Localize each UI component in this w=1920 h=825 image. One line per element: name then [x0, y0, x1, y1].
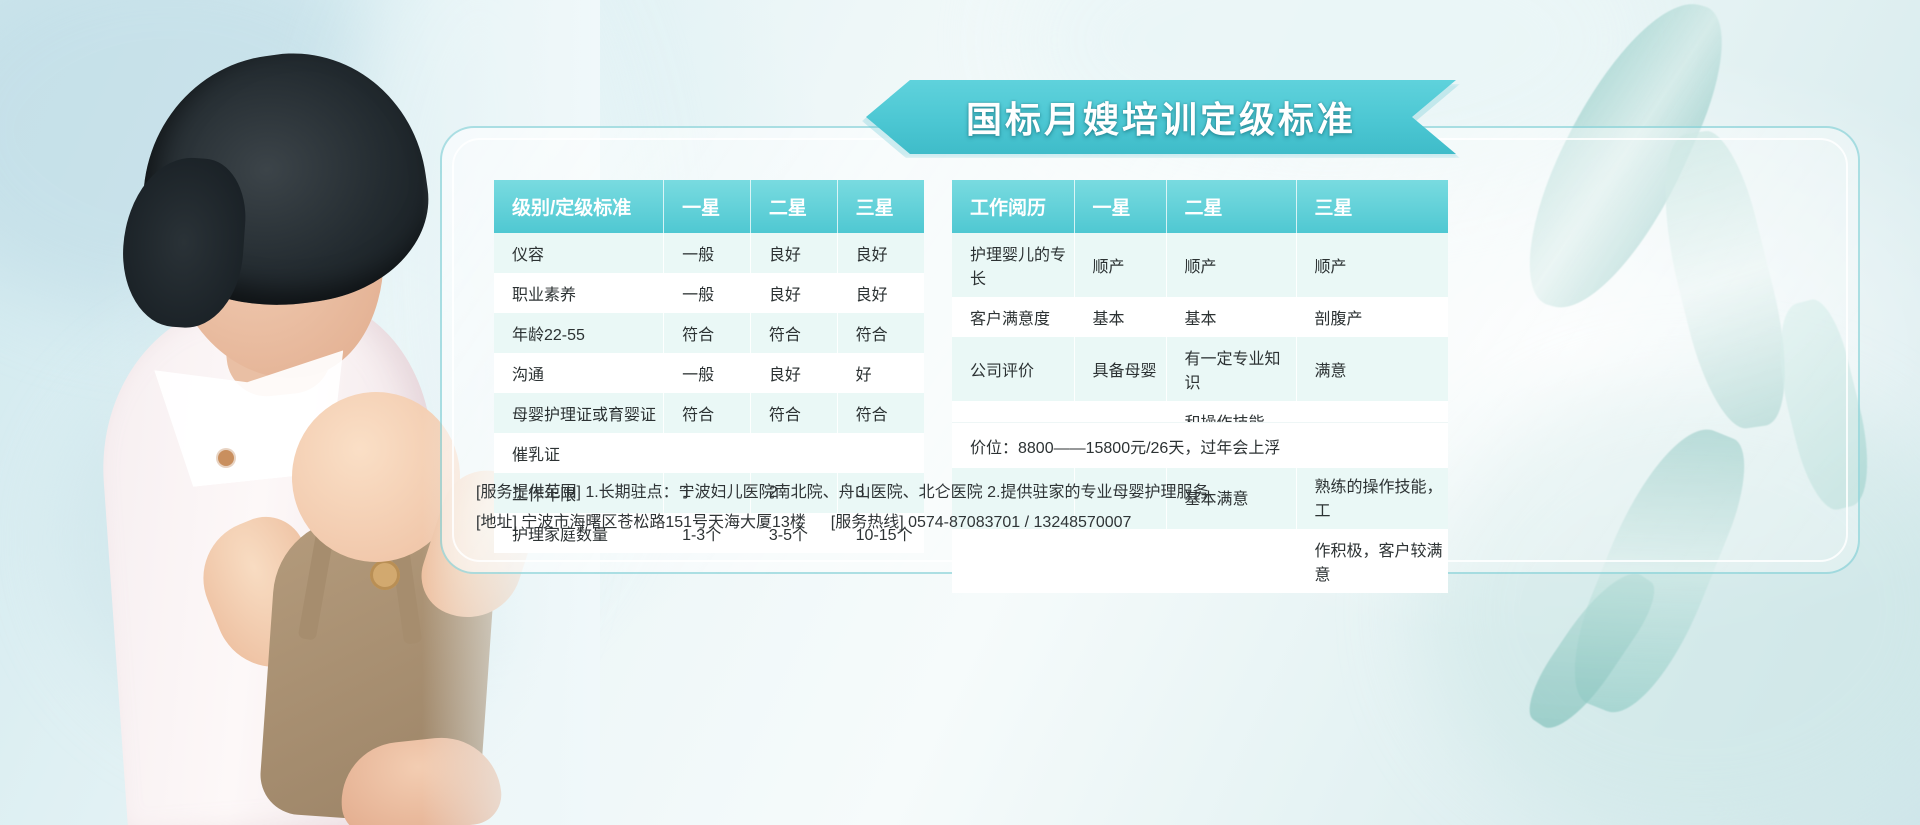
cell-two-star: 良好: [750, 233, 837, 273]
experience-label: 客户满意度: [952, 297, 1074, 337]
cell-three-star: [837, 433, 924, 473]
address-hotline-line: [地址] 宁波市海曙区苍松路151号天海大厦13楼 [服务热线] 0574-87…: [476, 508, 1476, 538]
table-row: 护理婴儿的专长 顺产 顺产 顺产: [952, 233, 1448, 297]
cell-one-star: 符合: [664, 393, 751, 433]
criteria-label: 催乳证: [494, 433, 664, 473]
criteria-label: 职业素养: [494, 273, 664, 313]
table-row: 仪容 一般 良好 良好: [494, 233, 924, 273]
cell-three-star: 好: [837, 353, 924, 393]
banner-ribbon: 国标月嫂培训定级标准: [866, 80, 1456, 154]
criteria-label: 仪容: [494, 233, 664, 273]
experience-label: [952, 529, 1074, 593]
cell-one-star: 一般: [664, 353, 751, 393]
cell-three-star: 作积极，客户较满意: [1296, 529, 1448, 593]
column-header-three-star: 三星: [837, 180, 924, 233]
column-header-two-star: 二星: [750, 180, 837, 233]
cell-three-star: 符合: [837, 313, 924, 353]
page-title: 国标月嫂培训定级标准: [966, 91, 1356, 143]
table-row: 催乳证: [494, 433, 924, 473]
cell-two-star: 良好: [750, 273, 837, 313]
cell-two-star: 基本: [1166, 297, 1296, 337]
cell-one-star: 一般: [664, 273, 751, 313]
cell-one-star: 具备母婴: [1074, 337, 1166, 401]
hotline-text: [服务热线] 0574-87083701 / 13248570007: [831, 514, 1132, 531]
table-row: 母婴护理证或育婴证 符合 符合 符合: [494, 393, 924, 433]
table-row: 沟通 一般 良好 好: [494, 353, 924, 393]
cell-three-star: 良好: [837, 273, 924, 313]
experience-label: 护理婴儿的专长: [952, 233, 1074, 297]
service-scope-line: [服务提供范围] 1.长期驻点：宁波妇儿医院南北院、舟山医院、北仑医院 2.提供…: [476, 478, 1476, 508]
criteria-label: 沟通: [494, 353, 664, 393]
column-header-one-star: 一星: [1074, 180, 1166, 233]
cell-two-star: 符合: [750, 313, 837, 353]
table-header-row: 级别/定级标准 一星 二星 三星: [494, 180, 924, 233]
cell-three-star: 顺产: [1296, 233, 1448, 297]
cell-two-star: [1166, 529, 1296, 593]
cell-one-star: 符合: [664, 313, 751, 353]
cell-two-star: 良好: [750, 353, 837, 393]
table-header-row: 工作阅历 一星 二星 三星: [952, 180, 1448, 233]
cell-three-star: 剖腹产: [1296, 297, 1448, 337]
price-note: 价位：8800——15800元/26天，过年会上浮: [952, 422, 1448, 468]
cell-two-star: 符合: [750, 393, 837, 433]
cell-three-star: 满意: [1296, 337, 1448, 401]
column-header-two-star: 二星: [1166, 180, 1296, 233]
table-row: 客户满意度 基本 基本 剖腹产: [952, 297, 1448, 337]
address-text: [地址] 宁波市海曙区苍松路151号天海大厦13楼: [476, 514, 806, 531]
cell-one-star: [664, 433, 751, 473]
uniform-button: [218, 450, 234, 466]
cell-two-star: [750, 433, 837, 473]
cell-one-star: 基本: [1074, 297, 1166, 337]
cell-three-star: 良好: [837, 233, 924, 273]
table-row: 职业素养 一般 良好 良好: [494, 273, 924, 313]
table-row: 公司评价 具备母婴 有一定专业知识 满意: [952, 337, 1448, 401]
cell-one-star: 一般: [664, 233, 751, 273]
baby-overall-button: [370, 560, 400, 590]
column-header-one-star: 一星: [664, 180, 751, 233]
table-row: 作积极，客户较满意: [952, 529, 1448, 593]
footer-info: [服务提供范围] 1.长期驻点：宁波妇儿医院南北院、舟山医院、北仑医院 2.提供…: [476, 478, 1476, 538]
criteria-label: 母婴护理证或育婴证: [494, 393, 664, 433]
column-header-experience: 工作阅历: [952, 180, 1074, 233]
column-header-criteria: 级别/定级标准: [494, 180, 664, 233]
cell-one-star: [1074, 529, 1166, 593]
cell-two-star: 顺产: [1166, 233, 1296, 297]
experience-label: 公司评价: [952, 337, 1074, 401]
cell-three-star: 符合: [837, 393, 924, 433]
cell-two-star: 有一定专业知识: [1166, 337, 1296, 401]
cell-one-star: 顺产: [1074, 233, 1166, 297]
column-header-three-star: 三星: [1296, 180, 1448, 233]
table-row: 年龄22-55 符合 符合 符合: [494, 313, 924, 353]
ribbon-decoration: [1517, 559, 1666, 741]
criteria-label: 年龄22-55: [494, 313, 664, 353]
